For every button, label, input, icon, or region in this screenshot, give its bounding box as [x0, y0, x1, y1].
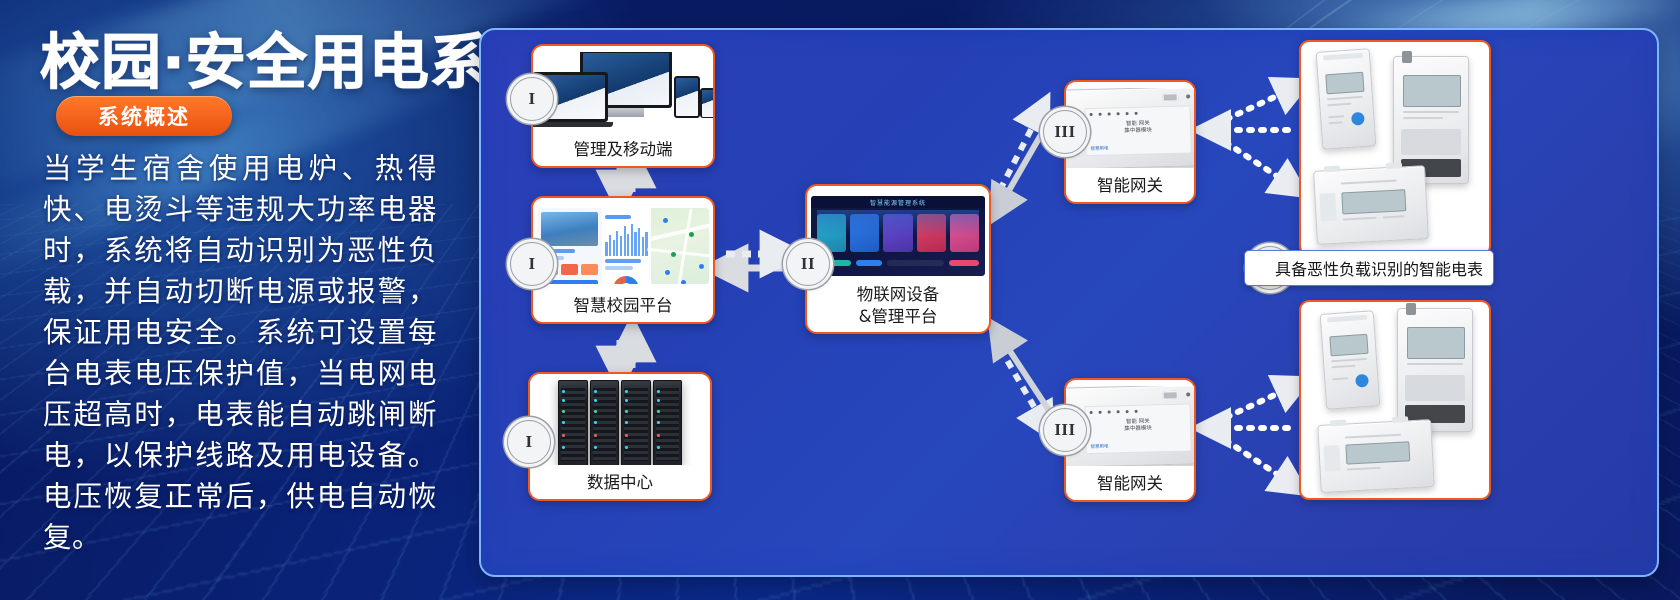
badge-roman-i-management: I: [510, 77, 554, 121]
node-iot-platform[interactable]: 智慧能源管理系统 物联网设备 &管理平台: [805, 184, 991, 334]
dashboard-icon: [533, 204, 713, 288]
section-tag-badge: 系统概述: [56, 96, 232, 136]
node-label: 智慧校园平台: [533, 295, 713, 316]
gateway-face-line2: 集中器模块: [1086, 424, 1190, 434]
node-label: 智能网关: [1066, 473, 1194, 494]
smart-meter-three-phase: [1397, 308, 1473, 432]
smart-meter-din-small: [1320, 310, 1381, 410]
node-label: 智能网关: [1066, 175, 1194, 196]
left-column: 校园·安全用电系统 系统概述 当学生宿舍使用电炉、热得快、电烫斗等违规大功率电器…: [0, 0, 470, 600]
server-rack-icon: [530, 380, 710, 465]
badge-roman-ii-iot: II: [786, 242, 830, 286]
smart-meter-three-phase: [1393, 56, 1469, 184]
meter-callout-text: 具备恶性负载识别的智能电表: [1275, 256, 1483, 280]
meter-callout-label[interactable]: 具备恶性负载识别的智能电表: [1244, 250, 1494, 286]
gateway-brand: 智慧用电: [1090, 146, 1108, 152]
meter-group-bottom[interactable]: [1299, 300, 1491, 500]
node-label: 物联网设备 &管理平台: [807, 284, 989, 328]
badge-roman-i-campus: I: [510, 242, 554, 286]
gateway-brand: 智慧用电: [1090, 444, 1108, 450]
iot-dashboard-icon: 智慧能源管理系统: [807, 192, 989, 280]
node-management-mobile[interactable]: 管理及移动端: [531, 44, 715, 168]
node-smart-campus-platform[interactable]: 智慧校园平台: [531, 196, 715, 324]
smart-meter-din-small: [1316, 48, 1377, 150]
node-label: 管理及移动端: [533, 139, 713, 160]
badge-roman-i-datacenter: I: [507, 420, 551, 464]
node-data-center[interactable]: 数据中心: [528, 372, 712, 501]
node-label: 数据中心: [530, 472, 710, 493]
overview-body-text: 当学生宿舍使用电炉、热得快、电烫斗等违规大功率电器时，系统将自动识别为恶性负载，…: [43, 148, 437, 558]
section-tag-label: 系统概述: [98, 101, 190, 131]
smart-meter-din-wide: [1313, 165, 1429, 245]
meter-group-top[interactable]: [1299, 40, 1491, 256]
smart-meter-din-wide: [1317, 419, 1434, 493]
badge-roman-iii-gateway-top: III: [1043, 110, 1087, 154]
page-title: 校园·安全用电系统: [40, 14, 552, 101]
gateway-face-line2: 集中器模块: [1086, 126, 1190, 136]
iot-screen-title: 智慧能源管理系统: [870, 198, 926, 207]
poster-root: 校园·安全用电系统 系统概述 当学生宿舍使用电炉、热得快、电烫斗等违规大功率电器…: [0, 0, 1680, 600]
badge-roman-iii-gateway-bottom: III: [1043, 408, 1087, 452]
devices-icon: [533, 52, 713, 132]
